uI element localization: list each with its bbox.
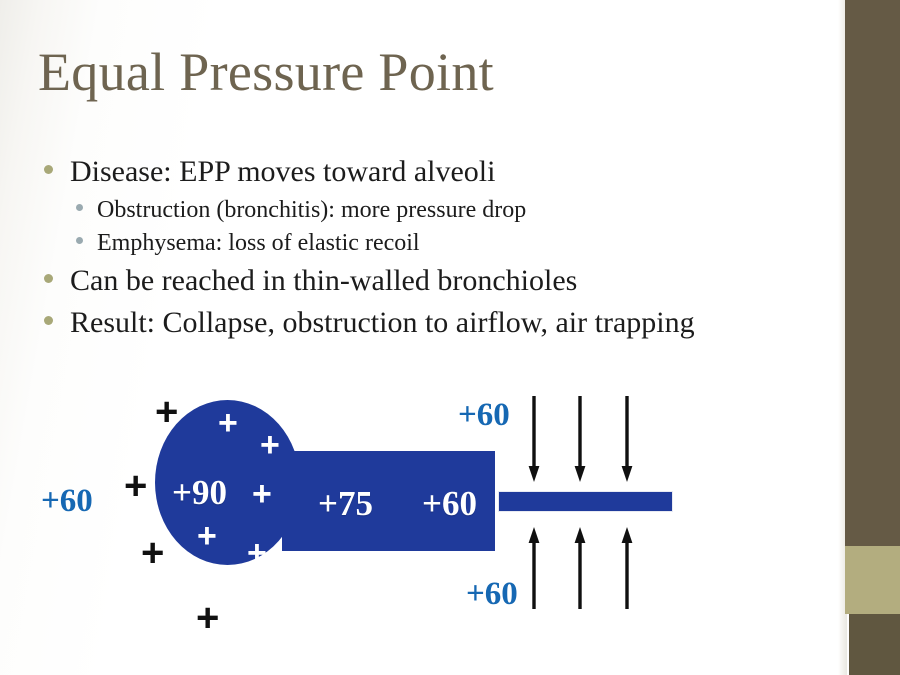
arrow-up-icon xyxy=(574,527,586,609)
plus-sign-outside-icon: + xyxy=(155,392,178,432)
arrow-up-icon xyxy=(528,527,540,609)
slide-side-decoration xyxy=(838,0,900,675)
side-bar-accent xyxy=(845,546,900,614)
list-item-label: Disease: EPP moves toward alveoli xyxy=(70,152,495,192)
list-item-label: Can be reached in thin-walled bronchiole… xyxy=(70,261,577,301)
bullet-dot-icon xyxy=(44,316,53,325)
bullet-dot-icon xyxy=(76,237,83,244)
list-item-label: Result: Collapse, obstruction to airflow… xyxy=(70,303,695,343)
plus-sign-outside-icon: + xyxy=(141,533,164,573)
plus-sign-inside-icon: + xyxy=(197,519,217,553)
collapsed-airway-shape xyxy=(498,491,673,512)
plus-sign-inside-icon: + xyxy=(218,406,238,440)
plus-sign-outside-icon: + xyxy=(124,466,147,506)
plus-sign-inside-icon: + xyxy=(247,536,267,570)
list-item: Emphysema: loss of elastic recoil xyxy=(44,227,784,259)
arrow-down-icon xyxy=(574,396,586,482)
pleural-pressure-left-label: +60 xyxy=(41,485,93,518)
arrow-up-icon xyxy=(621,527,633,609)
list-item-label: Emphysema: loss of elastic recoil xyxy=(97,227,420,259)
plus-sign-outside-icon: + xyxy=(196,598,219,638)
bullet-list: Disease: EPP moves toward alveoli Obstru… xyxy=(44,152,784,344)
bullet-dot-icon xyxy=(76,204,83,211)
bullet-dot-icon xyxy=(44,274,53,283)
arrow-down-icon xyxy=(528,396,540,482)
list-item: Result: Collapse, obstruction to airflow… xyxy=(44,303,784,343)
list-item: Can be reached in thin-walled bronchiole… xyxy=(44,261,784,301)
list-item: Disease: EPP moves toward alveoli xyxy=(44,152,784,192)
arrow-down-icon xyxy=(621,396,633,482)
airway-pressure-distal-label: +60 xyxy=(422,486,477,521)
page-title: Equal Pressure Point xyxy=(38,44,494,101)
pleural-pressure-top-label: +60 xyxy=(458,399,510,432)
plus-sign-inside-icon: + xyxy=(260,428,280,462)
slide-canvas: Equal Pressure Point Disease: EPP moves … xyxy=(0,0,900,675)
list-item: Obstruction (bronchitis): more pressure … xyxy=(44,194,784,226)
pleural-pressure-bottom-label: +60 xyxy=(466,578,518,611)
bullet-dot-icon xyxy=(44,165,53,174)
side-bar-dark-lower xyxy=(849,614,900,675)
airway-pressure-proximal-label: +75 xyxy=(318,486,373,521)
plus-sign-inside-icon: + xyxy=(252,477,272,511)
side-bar-dark-upper xyxy=(845,0,900,546)
list-item-label: Obstruction (bronchitis): more pressure … xyxy=(97,194,526,226)
alveolus-pressure-label: +90 xyxy=(172,475,227,510)
